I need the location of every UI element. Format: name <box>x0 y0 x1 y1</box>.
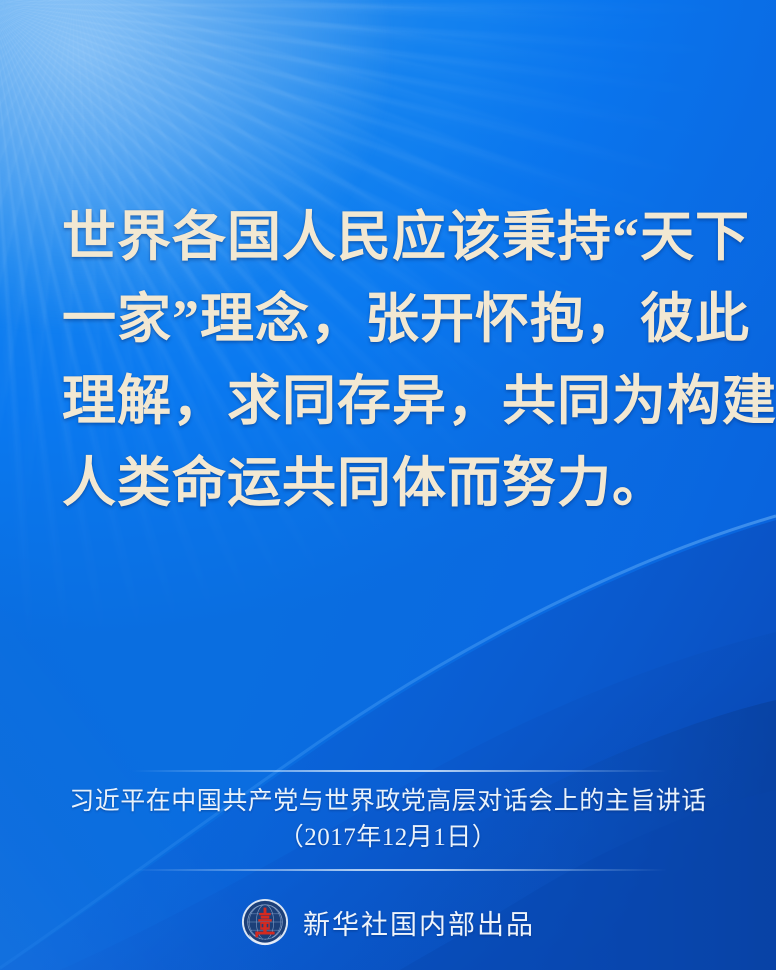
quote-line: 理解，求同存异，共同为构建 <box>62 360 714 442</box>
credit-title: 习近平在中国共产党与世界政党高层对话会上的主旨讲话 <box>0 784 776 820</box>
quote-line: 世界各国人民应该秉持“天下 <box>62 196 714 278</box>
credit-block: 习近平在中国共产党与世界政党高层对话会上的主旨讲话 （2017年12月1日） <box>0 784 776 856</box>
credit-divider-bottom <box>0 869 776 871</box>
brand-label: 新华社国内部出品 <box>303 903 535 942</box>
xinhua-emblem-icon: XINHUA <box>241 898 289 946</box>
quote-block: 世界各国人民应该秉持“天下 一家”理念，张开怀抱，彼此 理解，求同存异，共同为构… <box>0 196 776 524</box>
quote-poster: 世界各国人民应该秉持“天下 一家”理念，张开怀抱，彼此 理解，求同存异，共同为构… <box>0 0 776 970</box>
svg-text:XINHUA: XINHUA <box>257 936 273 940</box>
quote-line: 一家”理念，张开怀抱，彼此 <box>62 278 714 360</box>
poster-content: 世界各国人民应该秉持“天下 一家”理念，张开怀抱，彼此 理解，求同存异，共同为构… <box>0 0 776 970</box>
credit-divider-top <box>0 770 776 772</box>
credit-date: （2017年12月1日） <box>0 820 776 856</box>
quote-line: 人类命运共同体而努力。 <box>62 442 714 524</box>
brand-bar: XINHUA 新华社国内部出品 <box>0 898 776 946</box>
